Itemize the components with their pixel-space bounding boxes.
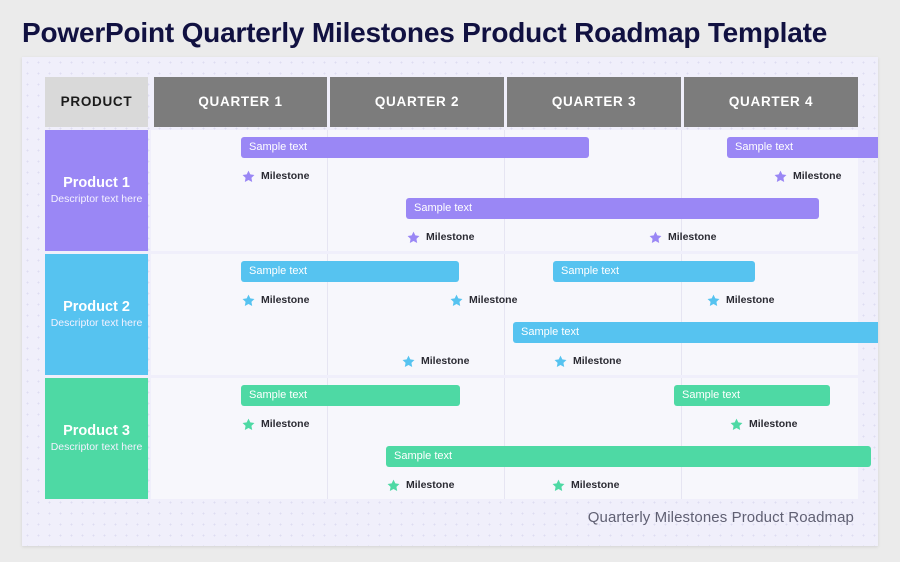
milestone-marker[interactable]: Milestone [553, 353, 621, 369]
product-name: Product 1 [63, 174, 130, 192]
slide-canvas: PRODUCTQUARTER 1QUARTER 2QUARTER 3QUARTE… [22, 57, 878, 546]
star-icon [551, 478, 566, 493]
milestone-label: Milestone [261, 418, 309, 430]
slide-footer-label: Quarterly Milestones Product Roadmap [588, 509, 854, 526]
column-header-quarter-3[interactable]: QUARTER 3 [507, 77, 681, 127]
product-name: Product 2 [63, 298, 130, 316]
star-icon [706, 293, 721, 308]
star-icon [401, 354, 416, 369]
star-icon [449, 293, 464, 308]
product-cell-2[interactable]: Product 2Descriptor text here [45, 254, 148, 375]
quarter-divider [504, 254, 505, 375]
product-name: Product 3 [63, 422, 130, 440]
task-bar[interactable]: Sample text [674, 385, 830, 406]
page-title: PowerPoint Quarterly Milestones Product … [22, 12, 878, 54]
milestone-label: Milestone [421, 355, 469, 367]
column-header-quarter-4[interactable]: QUARTER 4 [684, 77, 858, 127]
product-cell-1[interactable]: Product 1Descriptor text here [45, 130, 148, 251]
task-bar[interactable]: Sample text [241, 261, 459, 282]
milestone-marker[interactable]: Milestone [729, 416, 797, 432]
star-icon [241, 293, 256, 308]
star-icon [648, 230, 663, 245]
column-header-quarter-1[interactable]: QUARTER 1 [154, 77, 327, 127]
milestone-label: Milestone [749, 418, 797, 430]
milestone-label: Milestone [573, 355, 621, 367]
milestone-marker[interactable]: Milestone [449, 292, 517, 308]
milestone-label: Milestone [469, 294, 517, 306]
milestone-label: Milestone [793, 170, 841, 182]
milestone-marker[interactable]: Milestone [241, 168, 309, 184]
star-icon [406, 230, 421, 245]
task-bar[interactable]: Sample text [241, 385, 460, 406]
star-icon [729, 417, 744, 432]
milestone-marker[interactable]: Milestone [706, 292, 774, 308]
task-bar[interactable]: Sample text [386, 446, 871, 467]
milestone-marker[interactable]: Milestone [406, 229, 474, 245]
product-cell-3[interactable]: Product 3Descriptor text here [45, 378, 148, 499]
star-icon [241, 417, 256, 432]
column-header-quarter-2[interactable]: QUARTER 2 [330, 77, 504, 127]
milestone-marker[interactable]: Milestone [241, 292, 309, 308]
star-icon [773, 169, 788, 184]
star-icon [553, 354, 568, 369]
milestone-marker[interactable]: Milestone [401, 353, 469, 369]
milestone-marker[interactable]: Milestone [648, 229, 716, 245]
milestone-marker[interactable]: Milestone [551, 477, 619, 493]
milestone-label: Milestone [571, 479, 619, 491]
quarter-divider [504, 378, 505, 499]
milestone-marker[interactable]: Milestone [386, 477, 454, 493]
milestone-label: Milestone [726, 294, 774, 306]
milestone-marker[interactable]: Milestone [773, 168, 841, 184]
task-bar[interactable]: Sample text [513, 322, 878, 343]
task-bar[interactable]: Sample text [406, 198, 819, 219]
star-icon [386, 478, 401, 493]
milestone-marker[interactable]: Milestone [241, 416, 309, 432]
milestone-label: Milestone [406, 479, 454, 491]
product-descriptor: Descriptor text here [51, 192, 143, 207]
milestone-label: Milestone [426, 231, 474, 243]
task-bar[interactable]: Sample text [241, 137, 589, 158]
task-bar[interactable]: Sample text [553, 261, 755, 282]
milestone-label: Milestone [668, 231, 716, 243]
star-icon [241, 169, 256, 184]
product-descriptor: Descriptor text here [51, 440, 143, 455]
milestone-label: Milestone [261, 170, 309, 182]
milestone-label: Milestone [261, 294, 309, 306]
column-header-product[interactable]: PRODUCT [45, 77, 148, 127]
product-descriptor: Descriptor text here [51, 316, 143, 331]
task-bar[interactable]: Sample text [727, 137, 878, 158]
roadmap-table: PRODUCTQUARTER 1QUARTER 2QUARTER 3QUARTE… [45, 77, 858, 505]
